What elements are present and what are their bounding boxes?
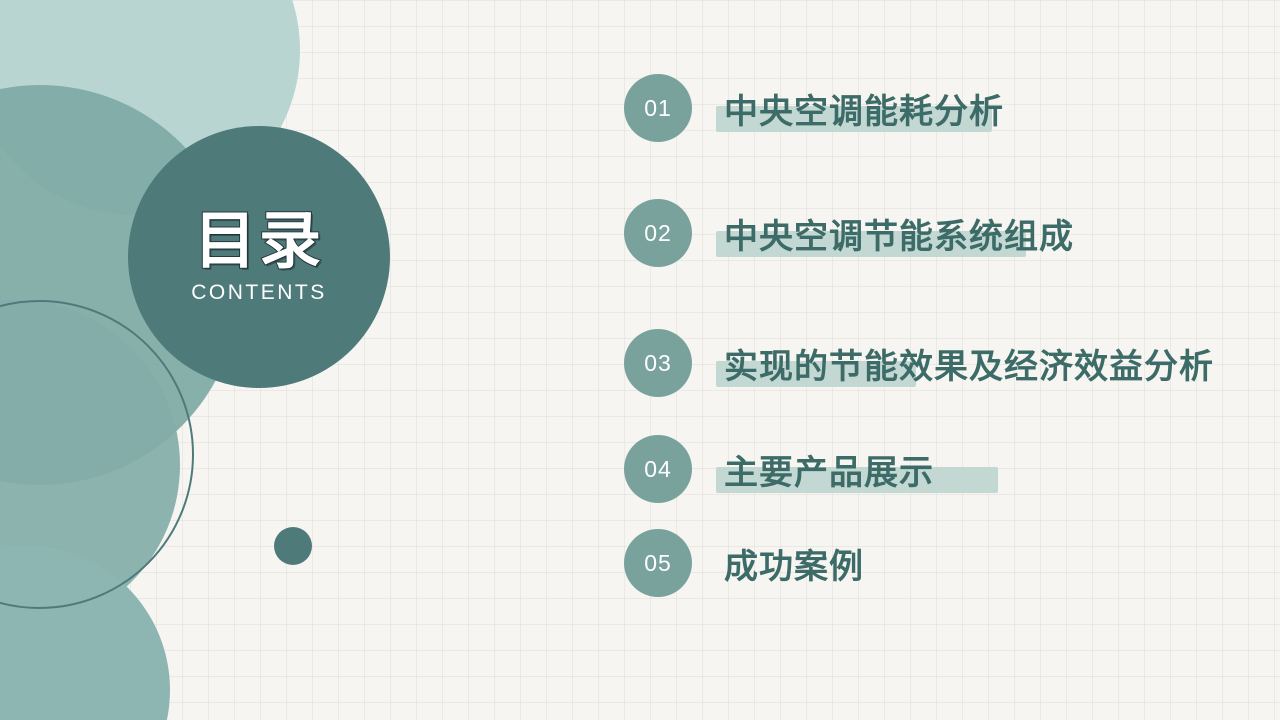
contents-item-label: 主要产品展示 [724, 445, 934, 494]
contents-item[interactable]: 01中央空调能耗分析 [624, 74, 1264, 142]
contents-slide: 目录 CONTENTS 01中央空调能耗分析02中央空调节能系统组成03实现的节… [0, 0, 1280, 720]
contents-item-number: 02 [624, 199, 692, 267]
contents-item-number: 05 [624, 529, 692, 597]
contents-list: 01中央空调能耗分析02中央空调节能系统组成03实现的节能效果及经济效益分析04… [624, 74, 1264, 597]
contents-item-label: 实现的节能效果及经济效益分析 [724, 339, 1214, 388]
contents-item-number: 01 [624, 74, 692, 142]
page-title: 目录 [194, 209, 324, 274]
small-dot [274, 527, 312, 565]
contents-item-label-wrap: 成功案例 [724, 529, 864, 597]
contents-item-label-wrap: 实现的节能效果及经济效益分析 [724, 329, 1214, 397]
page-subtitle: CONTENTS [191, 281, 327, 305]
contents-item-number: 03 [624, 329, 692, 397]
contents-item-label-wrap: 中央空调能耗分析 [724, 74, 1004, 142]
contents-item-label: 成功案例 [724, 539, 864, 588]
bottom-left-circle [0, 545, 170, 720]
contents-item[interactable]: 04主要产品展示 [624, 435, 1264, 503]
contents-item-label: 中央空调能耗分析 [724, 84, 1004, 133]
title-block: 目录 CONTENTS [128, 126, 390, 388]
contents-item-label-wrap: 主要产品展示 [724, 435, 934, 503]
contents-item[interactable]: 03实现的节能效果及经济效益分析 [624, 329, 1264, 397]
contents-item-label: 中央空调节能系统组成 [724, 209, 1074, 258]
contents-item-number: 04 [624, 435, 692, 503]
contents-item[interactable]: 05成功案例 [624, 529, 1264, 597]
contents-item-label-wrap: 中央空调节能系统组成 [724, 199, 1074, 267]
contents-item[interactable]: 02中央空调节能系统组成 [624, 199, 1264, 267]
